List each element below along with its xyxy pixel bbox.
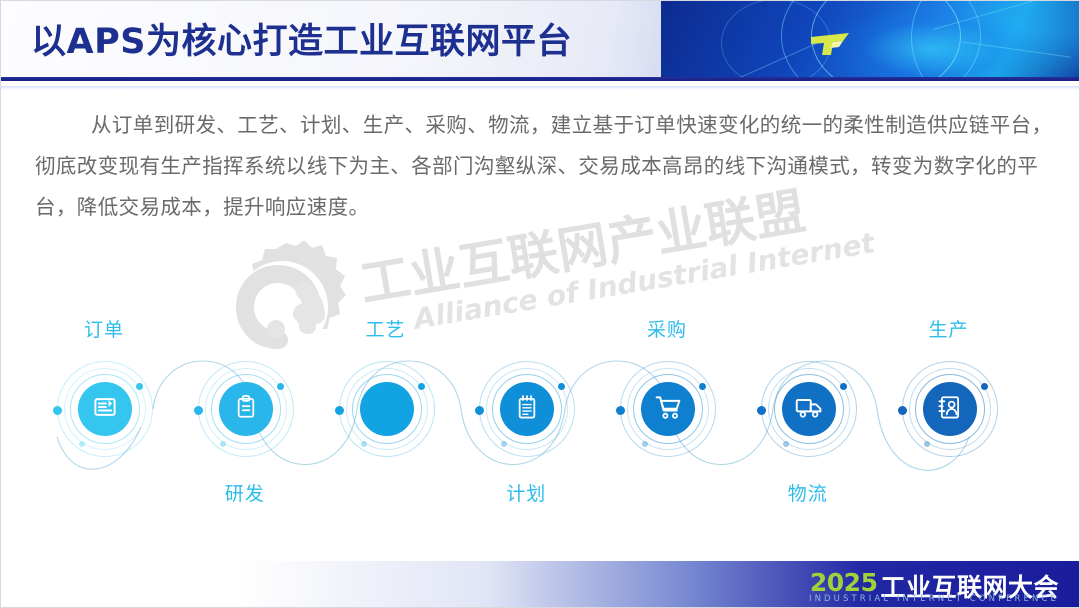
flow-node-1[interactable] [57, 361, 153, 457]
node-dot-left [898, 406, 907, 415]
flow-node-3[interactable] [339, 361, 435, 457]
header-tech-graphic [661, 1, 1080, 81]
flow-node-label-6: 物流 [788, 479, 828, 506]
node-dot-top-right [277, 383, 284, 390]
node-core[interactable] [923, 382, 977, 436]
node-dot-top-right [981, 383, 988, 390]
slide-header: 以APS为核心打造工业互联网平台 [1, 1, 1080, 81]
node-dot-left [335, 406, 344, 415]
flow-node-4[interactable] [479, 361, 575, 457]
flow-node-label-5: 采购 [647, 315, 687, 342]
flow-node-label-2: 研发 [225, 479, 265, 506]
flow-node-label-7: 生产 [929, 315, 969, 342]
truck-icon [795, 393, 823, 426]
node-dot-bottom-left [642, 441, 648, 447]
node-core[interactable] [641, 382, 695, 436]
node-dot-top-right [418, 383, 425, 390]
node-core[interactable] [78, 382, 132, 436]
body-paragraph: 从订单到研发、工艺、计划、生产、采购、物流，建立基于订单快速变化的统一的柔性制造… [35, 105, 1055, 228]
flow-node-7[interactable] [902, 361, 998, 457]
node-dot-bottom-left [783, 441, 789, 447]
node-dot-bottom-left [220, 441, 226, 447]
node-core[interactable] [500, 382, 554, 436]
slide-footer: 2025工业互联网大会 INDUSTRIAL INTERNET CONFEREN… [1, 561, 1080, 607]
conference-year: 2025 [810, 568, 878, 597]
flow-node-6[interactable] [761, 361, 857, 457]
flow-node-label-3: 工艺 [366, 315, 406, 342]
node-dot-bottom-left [79, 441, 85, 447]
node-core[interactable] [360, 382, 414, 436]
node-dot-bottom-left [924, 441, 930, 447]
node-core[interactable] [782, 382, 836, 436]
header-rule-sheen [1, 86, 1080, 90]
flow-node-label-4: 计划 [506, 479, 546, 506]
cart-icon [654, 393, 682, 426]
flow-node-label-1: 订单 [84, 315, 124, 342]
node-dot-top-right [840, 383, 847, 390]
slide-canvas: 以APS为核心打造工业互联网平台 从订单到研发、工艺、计划、生产、采购、物流，建… [0, 0, 1080, 608]
node-dot-left [53, 406, 62, 415]
clipboard-icon [233, 394, 259, 425]
order-icon [91, 393, 119, 426]
person-card-icon [937, 394, 963, 425]
conference-title-en: INDUSTRIAL INTERNET CONFERENCE [809, 594, 1059, 604]
paragraph-text: 从订单到研发、工艺、计划、生产、采购、物流，建立基于订单快速变化的统一的柔性制造… [35, 113, 1052, 219]
node-dot-left [194, 406, 203, 415]
node-dot-left [616, 406, 625, 415]
node-dot-top-right [136, 383, 143, 390]
node-core[interactable] [219, 382, 273, 436]
notepad-icon [514, 394, 540, 425]
node-dot-bottom-left [361, 441, 367, 447]
conference-t-logo-icon [809, 31, 855, 57]
node-dot-top-right [699, 383, 706, 390]
process-flow-diagram: 订单研发工艺计划采购物流生产 [1, 287, 1080, 527]
flow-node-2[interactable] [198, 361, 294, 457]
header-rule [1, 77, 1080, 81]
flow-node-5[interactable] [620, 361, 716, 457]
page-title: 以APS为核心打造工业互联网平台 [31, 13, 572, 64]
node-dot-left [757, 406, 766, 415]
